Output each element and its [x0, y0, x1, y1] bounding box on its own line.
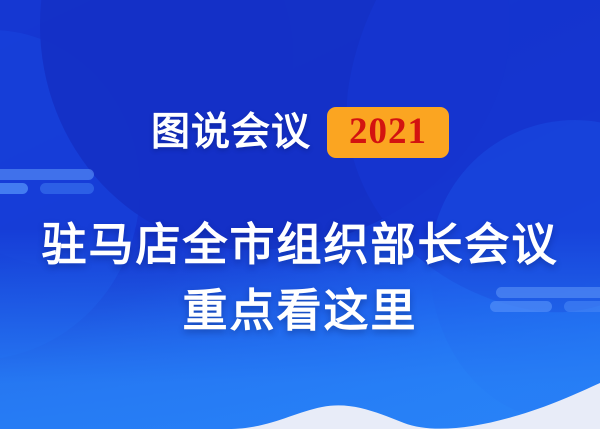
headline-block: 驻马店全市组织部长会议 重点看这里 — [0, 212, 600, 344]
conference-banner: 图说会议 2021 驻马店全市组织部长会议 重点看这里 — [0, 0, 600, 429]
headline-line-2: 重点看这里 — [0, 278, 600, 344]
speedline-left-icon — [0, 168, 100, 196]
wave-hill-shape — [0, 369, 600, 429]
eyebrow-title: 图说会议 — [151, 113, 311, 152]
year-badge-label: 2021 — [349, 113, 427, 150]
year-badge: 2021 — [327, 107, 449, 158]
headline-line-1: 驻马店全市组织部长会议 — [0, 212, 600, 278]
eyebrow-row: 图说会议 2021 — [0, 104, 600, 160]
